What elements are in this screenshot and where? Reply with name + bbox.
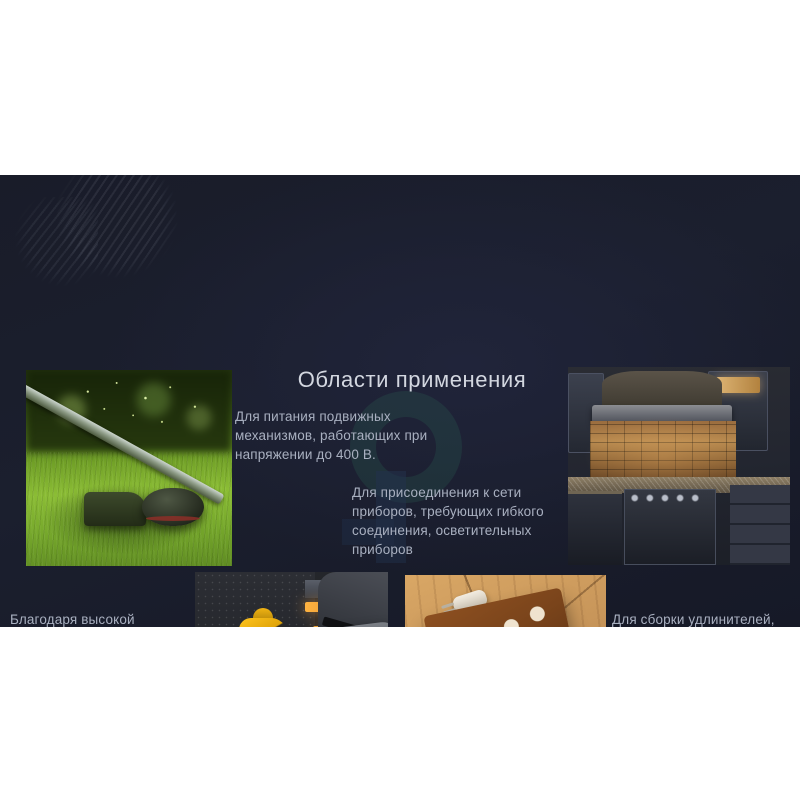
kitchen-range-knobs xyxy=(628,493,712,503)
text-block-extension-cords: Для сборки удлинителей, которые не дубею… xyxy=(612,610,792,627)
trimmer-head xyxy=(142,488,204,526)
flying-grass-specks xyxy=(26,370,232,478)
kitchen-drawers xyxy=(730,485,790,565)
diagonal-hatch-watermark-secondary-icon xyxy=(8,197,98,302)
photo-socket-block xyxy=(405,575,606,627)
text-block-power-tools: Благодаря высокой гибкости идеально подх… xyxy=(10,610,190,627)
photo-grass-trimmer xyxy=(26,370,232,566)
text-block-network-connection: Для присоединения к сети приборов, требу… xyxy=(352,483,567,559)
slide-title: Области применения xyxy=(252,367,572,393)
slide-canvas: Области применения Для питания подвижных… xyxy=(0,0,800,800)
kitchen-island-left xyxy=(568,491,622,565)
photo-angle-grinder xyxy=(195,572,388,627)
trimmer-guard xyxy=(84,492,146,526)
kitchen-warm-glow xyxy=(584,415,742,485)
diagonal-hatch-watermark-icon xyxy=(54,175,183,301)
photo-kitchen xyxy=(568,367,790,565)
text-block-moving-mechanisms: Для питания подвижных механизмов, работа… xyxy=(235,407,450,464)
slide-panel: Области применения Для питания подвижных… xyxy=(0,175,800,627)
kitchen-cabinet-light xyxy=(716,377,760,393)
